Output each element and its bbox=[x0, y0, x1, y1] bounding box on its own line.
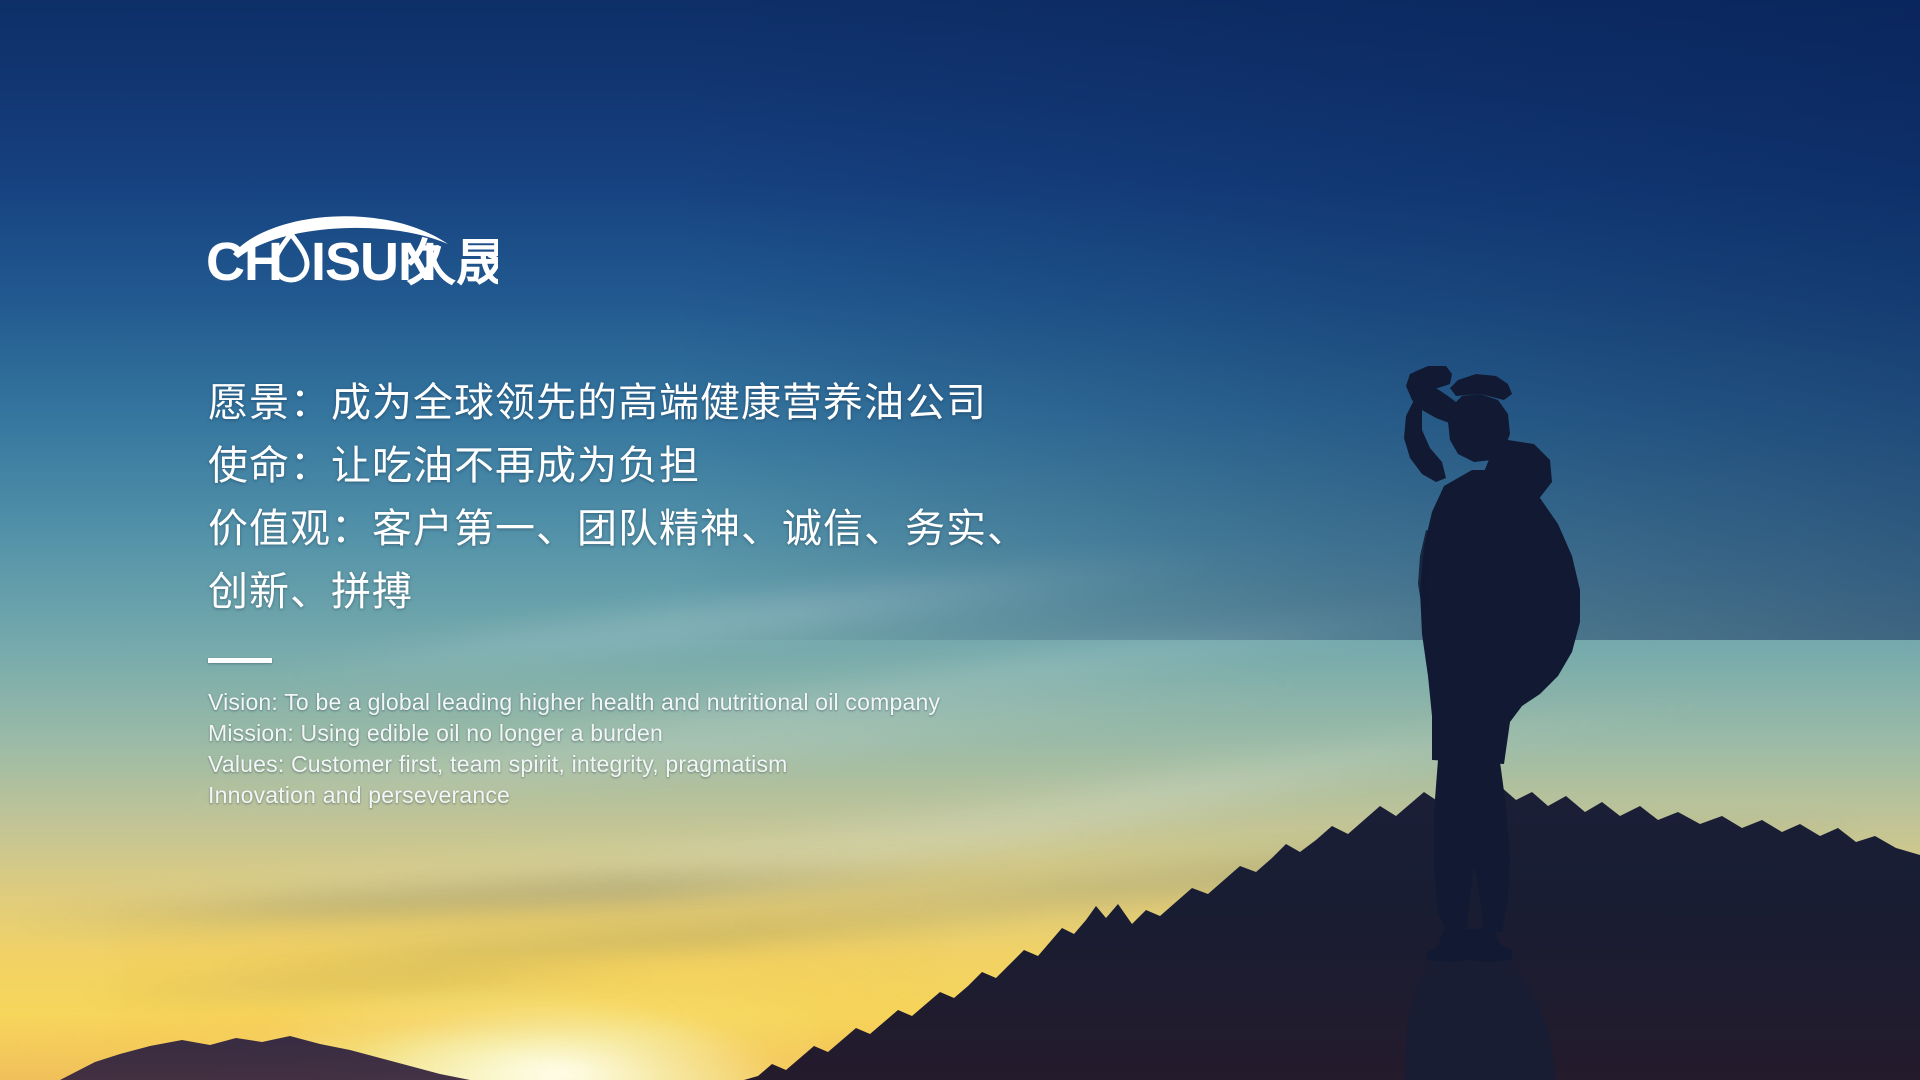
vision-line-cn: 愿景：成为全球领先的高端健康营养油公司 bbox=[208, 372, 1208, 435]
mission-line-en: Mission: Using edible oil no longer a bu… bbox=[208, 718, 1208, 749]
logo-wordmark-ch: CH bbox=[208, 232, 282, 286]
values-line-en-1: Values: Customer first, team spirit, int… bbox=[208, 749, 1208, 780]
values-line-cn-2: 创新、拼搏 bbox=[208, 561, 1208, 624]
choisun-logo[interactable]: CH ISUN 久晟 bbox=[208, 208, 498, 286]
values-line-cn-1: 价值观：客户第一、团队精神、诚信、务实、 bbox=[208, 498, 1208, 561]
section-divider bbox=[208, 658, 272, 663]
values-line-en-2: Innovation and perseverance bbox=[208, 780, 1208, 811]
choisun-logo-mark: CH ISUN 久晟 bbox=[208, 208, 498, 286]
mission-line-cn: 使命：让吃油不再成为负担 bbox=[208, 435, 1208, 498]
distant-hill-silhouette bbox=[60, 1036, 470, 1080]
vision-line-en: Vision: To be a global leading higher he… bbox=[208, 687, 1208, 718]
binoculars bbox=[1412, 366, 1452, 388]
slide-canvas: CH ISUN 久晟 愿景：成为全球领先的高端健康营养油公司 使命：让吃油不再成… bbox=[0, 0, 1920, 1080]
mission-statement-block: 愿景：成为全球领先的高端健康营养油公司 使命：让吃油不再成为负担 价值观：客户第… bbox=[208, 372, 1208, 811]
english-translation-block: Vision: To be a global leading higher he… bbox=[208, 687, 1208, 811]
hiker-torso-and-backpack bbox=[1420, 470, 1580, 764]
hiker-head bbox=[1448, 394, 1510, 462]
logo-wordmark-cn: 久晟 bbox=[406, 235, 498, 286]
